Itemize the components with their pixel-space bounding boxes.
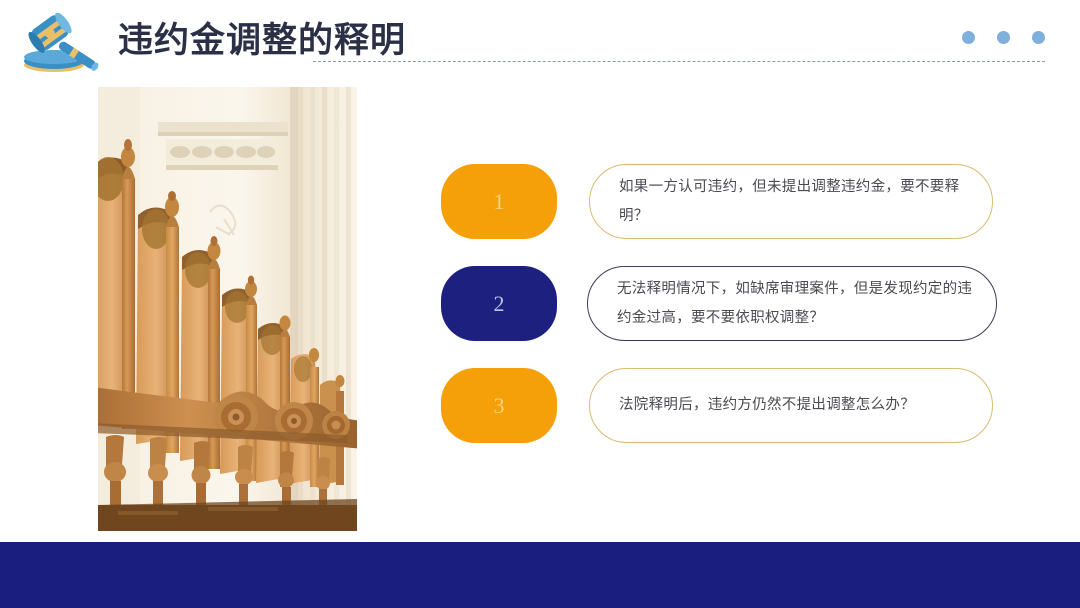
item-text-2: 无法释明情况下，如缺席审理案件，但是发现约定的违约金过高，要不要依职权调整？ [617,275,996,333]
gavel-icon [14,13,106,75]
footer-bar [0,542,1080,608]
item-badge-3: 3 [441,368,557,443]
header-dot-3 [1032,31,1045,44]
header-dots [962,31,1045,44]
item-bubble-1: 如果一方认可违约，但未提出调整违约金，要不要释明？ [589,164,993,239]
qa-items-list: 1 如果一方认可违约，但未提出调整违约金，要不要释明？ 2 无法释明情况下，如缺… [441,164,993,443]
header-dot-1 [962,31,975,44]
item-text-1: 如果一方认可违约，但未提出调整违约金，要不要释明？ [619,173,992,231]
title-divider [313,61,1045,62]
item-badge-1: 1 [441,164,557,239]
list-item: 2 无法释明情况下，如缺席审理案件，但是发现约定的违约金过高，要不要依职权调整？ [441,266,993,341]
item-bubble-2: 无法释明情况下，如缺席审理案件，但是发现约定的违约金过高，要不要依职权调整？ [587,266,997,341]
item-badge-2: 2 [441,266,557,341]
item-text-3: 法院释明后，违约方仍然不提出调整怎么办？ [619,391,931,420]
list-item: 1 如果一方认可违约，但未提出调整违约金，要不要释明？ [441,164,993,239]
list-item: 3 法院释明后，违约方仍然不提出调整怎么办？ [441,368,993,443]
item-bubble-3: 法院释明后，违约方仍然不提出调整怎么办？ [589,368,993,443]
page-title: 违约金调整的释明 [118,12,406,63]
header-dot-2 [997,31,1010,44]
slide: 违约金调整的释明 [0,0,1080,608]
courtroom-benches-photo [98,87,357,531]
